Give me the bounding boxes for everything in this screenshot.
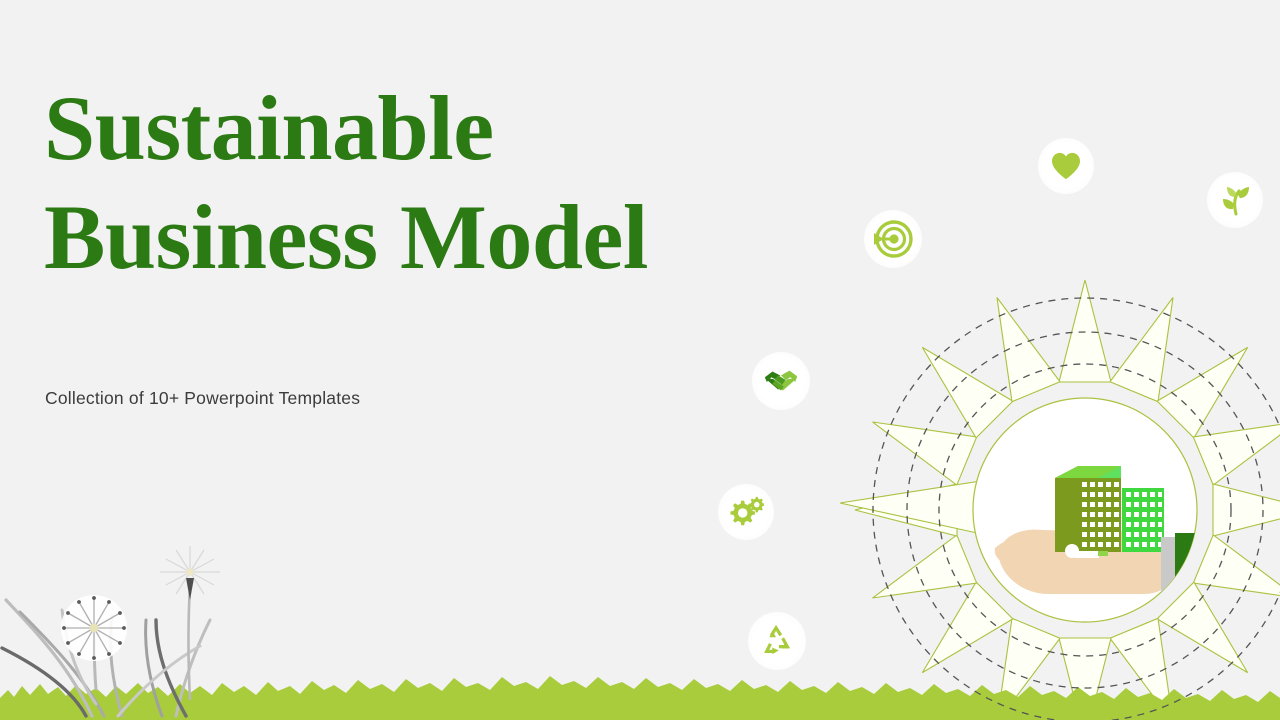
ray-long-left — [840, 478, 1000, 538]
building-a-windows — [1082, 482, 1119, 547]
seed-tips — [62, 596, 126, 660]
page-subtitle: Collection of 10+ Powerpoint Templates — [45, 388, 360, 409]
ray — [904, 582, 1013, 691]
page-title: Sustainable Business Model — [44, 74, 804, 291]
building-b-windows — [1126, 492, 1162, 547]
dashed-ring-inner — [939, 364, 1231, 656]
ground-detail-green — [1098, 551, 1108, 556]
gears-icon-badge[interactable] — [718, 484, 774, 540]
seed-pod — [186, 578, 194, 600]
center-disc — [973, 398, 1197, 622]
ray — [1059, 280, 1111, 382]
ray-group — [840, 280, 1280, 720]
ray — [863, 398, 977, 485]
leaf-icon — [1219, 184, 1251, 216]
grass-silhouette — [0, 676, 1280, 720]
target-icon — [873, 219, 913, 259]
ray — [973, 288, 1060, 402]
target-icon-badge[interactable] — [864, 210, 922, 268]
building-a-side — [1055, 466, 1078, 552]
seed-spokes — [160, 546, 220, 594]
recycle-icon-badge[interactable] — [748, 612, 806, 670]
ray — [1110, 288, 1197, 402]
ray — [863, 535, 977, 622]
seed-spokes — [64, 598, 124, 658]
ray — [1059, 638, 1111, 720]
recycle-icon — [760, 625, 794, 657]
hand-palm — [998, 530, 1168, 594]
sleeve — [1175, 533, 1200, 600]
ray — [1157, 329, 1266, 438]
seed-core — [90, 624, 99, 633]
ray — [1193, 535, 1280, 622]
slide-canvas: Sustainable Business Model Collection of… — [0, 0, 1280, 720]
dandelion-right — [160, 546, 220, 700]
ray — [1157, 582, 1266, 691]
dashed-ring-outer — [873, 298, 1280, 720]
dashed-ring-mid — [907, 332, 1263, 688]
hand-thumb — [995, 536, 1060, 567]
heart-icon — [1051, 152, 1081, 180]
handshake-icon — [763, 366, 799, 396]
building-a-face — [1078, 478, 1121, 552]
handshake-icon-badge[interactable] — [752, 352, 810, 410]
building-a-roof — [1078, 466, 1121, 478]
dandelion-left — [61, 595, 127, 690]
ray — [1193, 398, 1280, 485]
ray — [1213, 484, 1280, 536]
heart-icon-badge[interactable] — [1038, 138, 1094, 194]
leaf-icon-badge[interactable] — [1207, 172, 1263, 228]
grass-blades — [2, 600, 210, 716]
ray — [973, 618, 1060, 720]
seed-core — [186, 568, 193, 575]
sleeve-button — [1182, 563, 1192, 573]
ray — [1110, 618, 1197, 720]
ground-detail — [1075, 551, 1099, 558]
building-a-roof-top — [1055, 466, 1121, 478]
title-block: Sustainable Business Model — [44, 74, 804, 291]
ray — [855, 484, 957, 536]
building-b-face — [1122, 488, 1164, 552]
ray — [904, 329, 1013, 438]
gears-icon — [728, 495, 764, 529]
ground-detail — [1065, 544, 1079, 558]
sleeve-cuff — [1161, 537, 1175, 599]
